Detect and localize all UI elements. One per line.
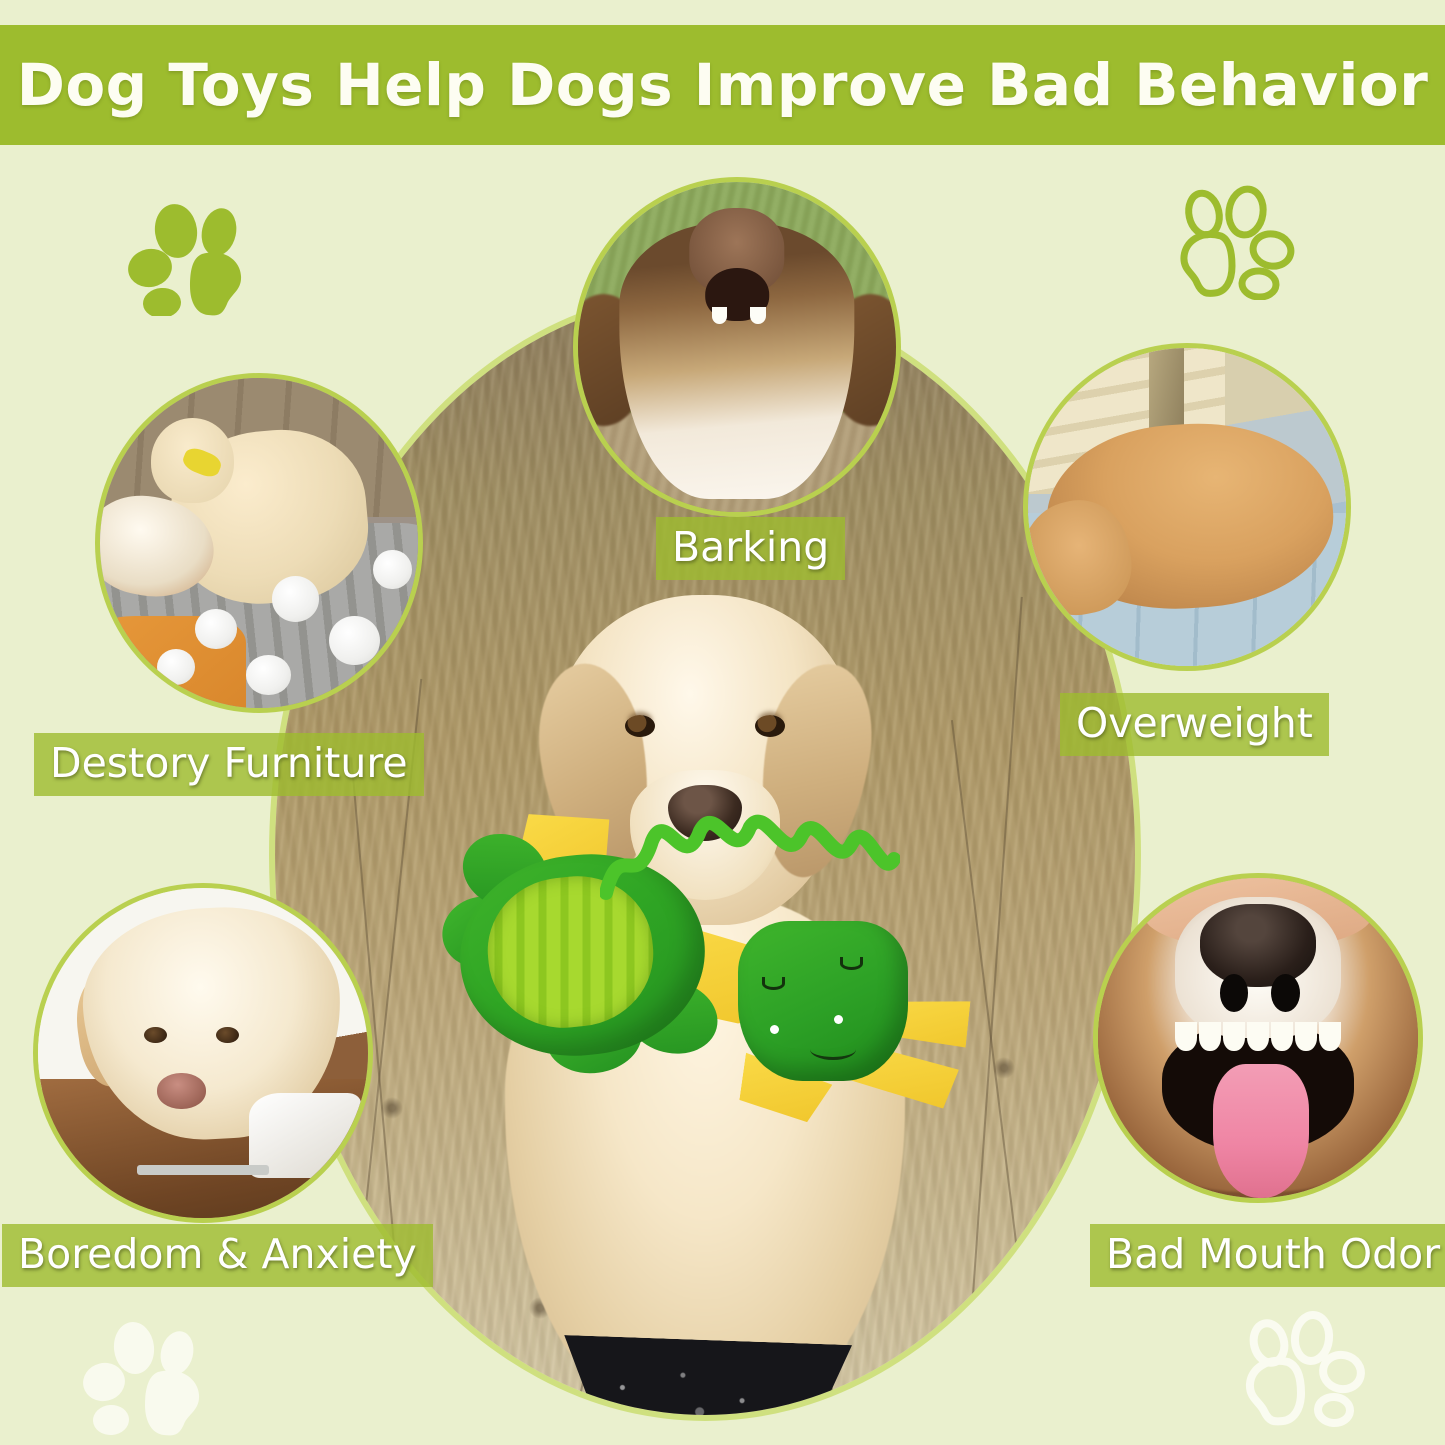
label-barking: Barking (656, 517, 845, 580)
label-barking-text: Barking (672, 523, 829, 571)
label-boredom-anxiety: Boredom & Anxiety (2, 1224, 433, 1287)
photo-bad-mouth-odor (1098, 878, 1418, 1198)
paw-print-icon-top-left (128, 196, 246, 316)
page-title: Dog Toys Help Dogs Improve Bad Behavior (17, 51, 1429, 119)
paw-print-icon-bottom-left (78, 1318, 204, 1444)
label-bad-mouth-odor-text: Bad Mouth Odor (1106, 1230, 1440, 1278)
infographic-canvas: Dog Toys Help Dogs Improve Bad Behavior (0, 0, 1445, 1445)
paw-print-icon-top-right (1176, 176, 1296, 300)
bandana (552, 1335, 858, 1415)
header-banner: Dog Toys Help Dogs Improve Bad Behavior (0, 25, 1445, 145)
photo-destroy-furniture (100, 378, 418, 708)
label-boredom-anxiety-text: Boredom & Anxiety (18, 1230, 417, 1278)
label-bad-mouth-odor: Bad Mouth Odor (1090, 1224, 1445, 1287)
paw-print-icon-bottom-right (1238, 1306, 1368, 1436)
photo-overweight (1028, 348, 1346, 666)
photo-boredom-anxiety (38, 888, 368, 1218)
label-destroy-furniture: Destory Furniture (34, 733, 424, 796)
label-overweight-text: Overweight (1076, 699, 1313, 747)
label-destroy-furniture-text: Destory Furniture (50, 739, 408, 787)
photo-barking (578, 182, 896, 512)
toy-rope (600, 797, 900, 915)
plush-turtle-dog-toy (450, 805, 970, 1135)
label-overweight: Overweight (1060, 693, 1329, 756)
